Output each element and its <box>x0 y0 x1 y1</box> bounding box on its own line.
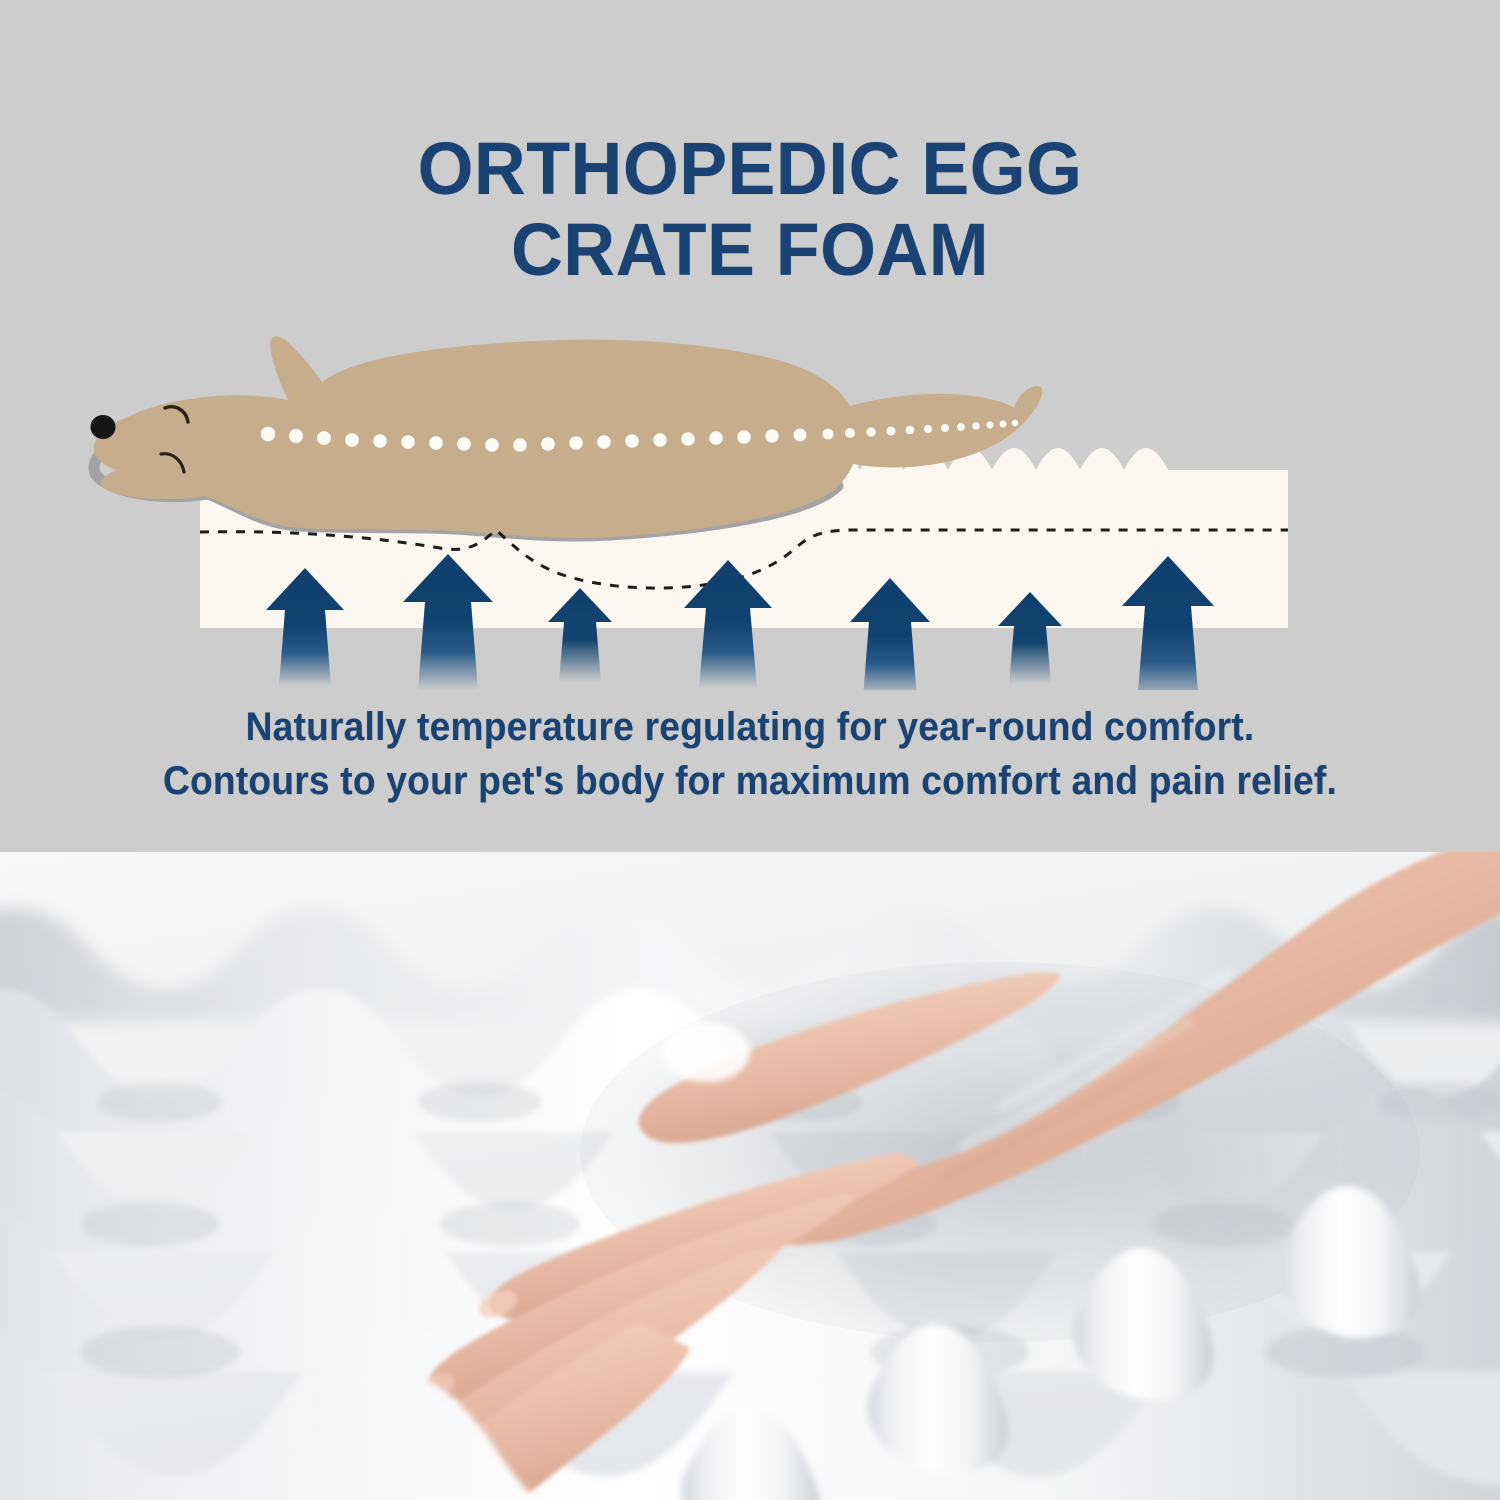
page-title: ORTHOPEDIC EGG CRATE FOAM <box>23 128 1478 290</box>
top-info-panel: ORTHOPEDIC EGG CRATE FOAM <box>0 0 1500 852</box>
foam-nub-highlight <box>662 1022 750 1082</box>
product-feature-graphic: ORTHOPEDIC EGG CRATE FOAM <box>0 0 1500 1500</box>
illustration-dog-on-foam <box>0 300 1500 690</box>
foam-photo-svg <box>0 852 1500 1500</box>
illustration-svg <box>0 300 1500 690</box>
foam-texture-photo <box>0 852 1500 1500</box>
dog-nose <box>91 415 116 439</box>
caption-line-2: Contours to your pet's body for maximum … <box>53 754 1448 808</box>
caption-line-1: Naturally temperature regulating for yea… <box>53 700 1448 754</box>
caption-block: Naturally temperature regulating for yea… <box>0 700 1500 808</box>
